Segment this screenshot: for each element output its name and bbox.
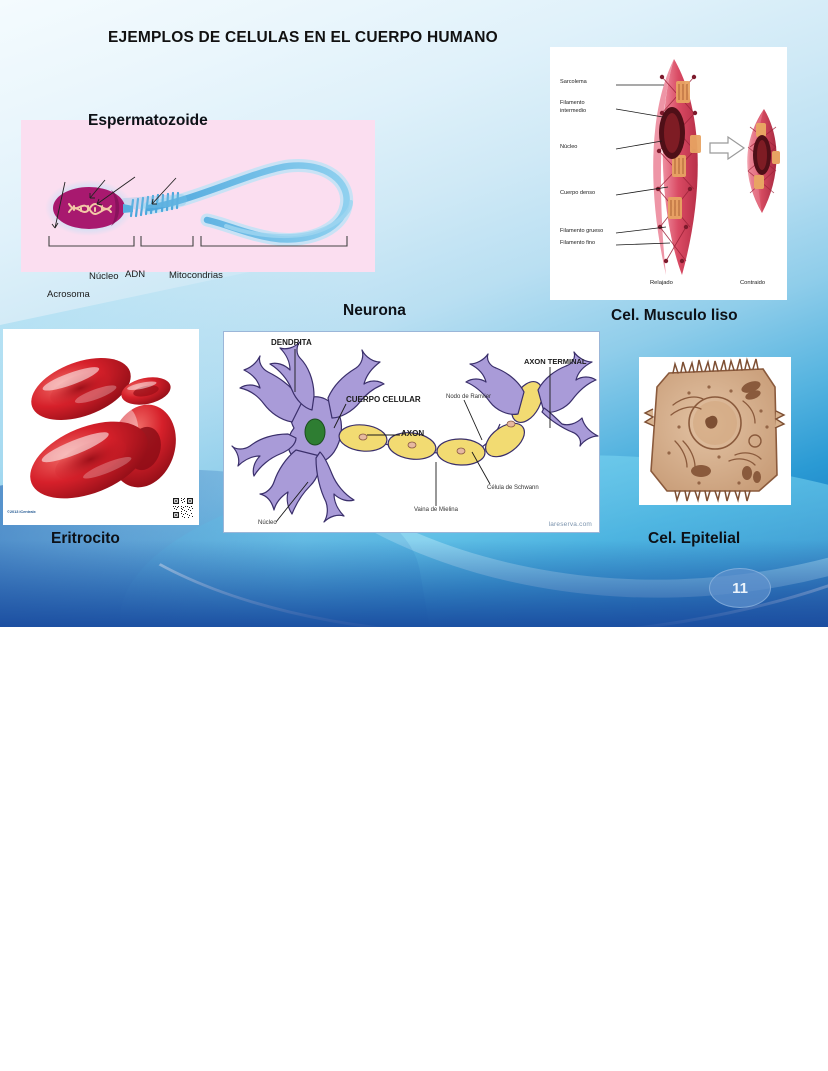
muscle-label-filamento-fino: Filamento fino: [560, 240, 595, 246]
muscle-label-sarcolema: Sarcolema: [560, 79, 587, 85]
muscle-label-filamento-intermedio: Filamento intermedio: [560, 99, 608, 115]
qr-code-icon: [172, 497, 194, 519]
page-root: EJEMPLOS DE CELULAS EN EL CUERPO HUMANO: [0, 0, 828, 1071]
erythrocyte-credit: ©2013 iCentralx: [7, 509, 36, 514]
neuron-label-vaina-mielina: Vaina de Mielina: [414, 507, 458, 513]
sperm-label-mitocondrias: Mitocondrias: [169, 270, 223, 281]
page-number-badge: 11: [709, 568, 771, 608]
epitelial-diagram: [639, 357, 791, 505]
muscle-state-contraido: Contraido: [740, 280, 765, 286]
neuron-label-dendrita: DENDRITA: [271, 338, 312, 347]
background-bottom-fade: [0, 540, 828, 627]
eritrocito-diagram: ©2013 iCentralx: [3, 329, 199, 525]
caption-espermatozoide: Espermatozoide: [88, 112, 208, 130]
caption-eritrocito: Eritrocito: [51, 530, 120, 548]
caption-epitelial: Cel. Epitelial: [648, 530, 740, 548]
sperm-label-adn: ADN: [125, 269, 145, 280]
sperm-drawing: [21, 120, 375, 272]
espermatozoide-diagram: Acrosoma Núcleo ADN Mitocondrias Cabeza …: [21, 120, 375, 272]
epithelial-cell-drawing: [639, 357, 791, 505]
neuron-credit: lareserva.com: [549, 521, 592, 528]
neuron-label-cuerpo-celular: CUERPO CELULAR: [346, 395, 421, 404]
caption-musculo-liso: Cel. Musculo liso: [611, 307, 738, 325]
neuron-label-nucleo: Núcleo: [258, 520, 277, 526]
neuron-label-axon-terminal: AXON TERMINAL: [524, 357, 587, 366]
neuron-label-nodo-ranvier: Nodo de Ranvier: [446, 394, 491, 400]
caption-neurona: Neurona: [343, 302, 406, 320]
slide-canvas: EJEMPLOS DE CELULAS EN EL CUERPO HUMANO: [0, 0, 828, 627]
muscle-state-relajado: Relajado: [650, 280, 673, 286]
neurona-diagram: DENDRITA CUERPO CELULAR AXON AXON TERMIN…: [223, 331, 600, 533]
neuron-label-celula-schwann: Célula de Schwann: [487, 485, 539, 491]
sperm-label-acrosoma: Acrosoma: [47, 289, 90, 300]
muscle-label-filamento-grueso: Filamento grueso: [560, 228, 603, 234]
page-title: EJEMPLOS DE CELULAS EN EL CUERPO HUMANO: [108, 29, 528, 47]
sperm-label-nucleo: Núcleo: [89, 271, 119, 282]
red-blood-cells-drawing: [3, 329, 199, 525]
muscle-label-cuerpo-denso: Cuerpo denso: [560, 190, 595, 196]
neuron-label-axon: AXON: [401, 429, 424, 438]
muscle-label-nucleo: Núcleo: [560, 144, 577, 150]
musculo-liso-diagram: Sarcolema Filamento intermedio Núcleo Cu…: [550, 47, 787, 300]
